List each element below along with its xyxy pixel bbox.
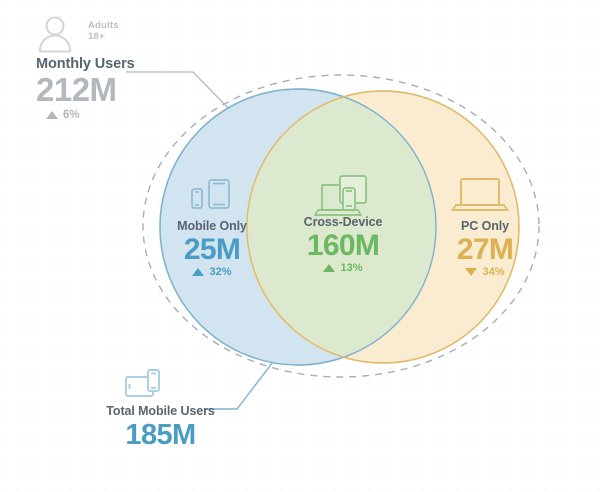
total-mobile-users-label: Total Mobile Users	[58, 404, 263, 418]
monthly-users-value: 212M	[36, 72, 206, 108]
segment-mobile-only-delta-value: 32%	[209, 266, 231, 278]
adults-caption-line2: 18+	[88, 32, 119, 43]
segment-mobile-only-name: Mobile Only	[137, 219, 287, 233]
segment-mobile-only[interactable]: Mobile Only 25M 32%	[137, 172, 287, 278]
segment-mobile-only-icon-slot	[137, 172, 287, 214]
monthly-users-delta-value: 6%	[63, 109, 80, 121]
monthly-users-label: Monthly Users	[36, 56, 206, 72]
adults-caption: Adults 18+	[88, 21, 119, 43]
triangle-up-icon	[323, 264, 335, 272]
infographic-canvas: Adults 18+ Monthly Users 212M 6% Mobile …	[0, 0, 610, 492]
triangle-up-icon	[192, 268, 204, 276]
total-mobile-users-icon-slot	[58, 362, 263, 398]
segment-cross-device[interactable]: Cross-Device 160M 13%	[268, 168, 418, 274]
monthly-users-delta: 6%	[46, 109, 206, 121]
segment-mobile-only-delta: 32%	[137, 266, 287, 278]
segment-cross-device-delta-value: 13%	[340, 262, 362, 274]
triangle-up-icon	[46, 111, 58, 119]
segment-pc-only-name: PC Only	[410, 219, 560, 233]
segment-cross-device-value: 160M	[268, 229, 418, 263]
segment-cross-device-name: Cross-Device	[268, 215, 418, 229]
monthly-users-block: Adults 18+ Monthly Users 212M 6%	[36, 12, 206, 121]
triangle-down-icon	[465, 268, 477, 276]
total-mobile-users-block: Total Mobile Users 185M	[58, 362, 263, 453]
adults-row: Adults 18+	[36, 12, 206, 52]
total-mobile-users-value: 185M	[58, 418, 263, 453]
segment-pc-only[interactable]: PC Only 27M 34%	[410, 172, 560, 278]
segment-cross-device-icon-slot	[268, 168, 418, 210]
segment-cross-device-delta: 13%	[268, 262, 418, 274]
segment-mobile-only-value: 25M	[137, 233, 287, 267]
segment-pc-only-delta-value: 34%	[482, 266, 504, 278]
segment-pc-only-icon-slot	[410, 172, 560, 214]
segment-pc-only-delta: 34%	[410, 266, 560, 278]
segment-pc-only-value: 27M	[410, 233, 560, 267]
